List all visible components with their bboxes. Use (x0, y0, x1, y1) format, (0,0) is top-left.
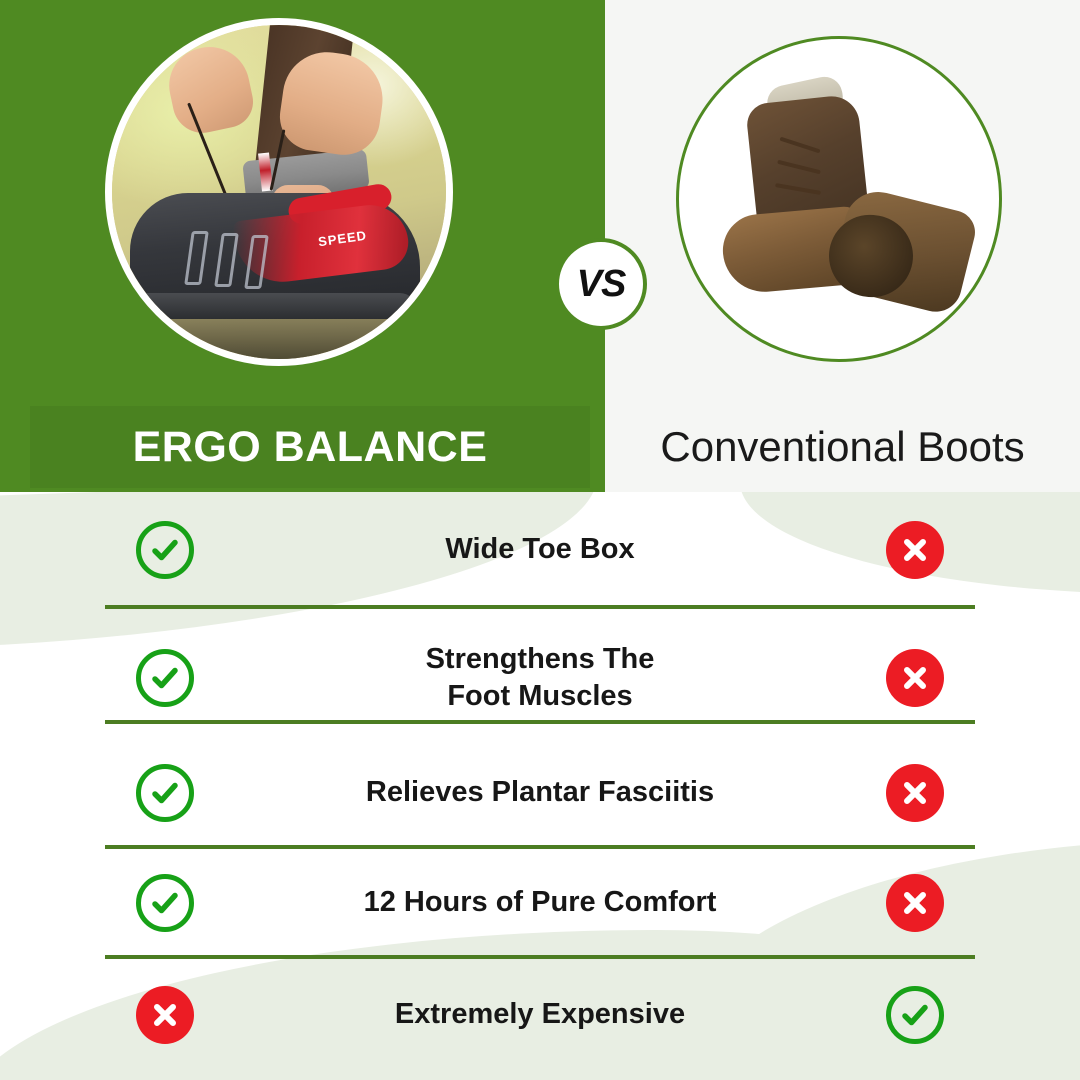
feature-label: Extremely Expensive (330, 996, 750, 1033)
row-divider (105, 720, 975, 724)
feature-label-line: Strengthens The (330, 641, 750, 678)
left-verdict-cell (0, 874, 330, 932)
header-section: SPEED VS ERGO BALANCE Conventional Boots (0, 0, 1080, 492)
check-icon (136, 649, 194, 707)
comparison-row: Extremely Expensive (0, 979, 1080, 1051)
feature-label-line: Relieves Plantar Fasciitis (330, 774, 750, 811)
feature-label: Strengthens TheFoot Muscles (330, 641, 750, 715)
feature-label-line: 12 Hours of Pure Comfort (330, 884, 750, 921)
row-divider (105, 605, 975, 609)
comparison-infographic: SPEED VS ERGO BALANCE Conventional Boots (0, 0, 1080, 1080)
right-verdict-cell (750, 521, 1080, 579)
left-verdict-cell (0, 764, 330, 822)
check-icon (136, 521, 194, 579)
comparison-rows: Wide Toe BoxStrengthens TheFoot MusclesR… (0, 492, 1080, 1080)
comparison-row: Strengthens TheFoot Muscles (0, 632, 1080, 724)
comparison-row: Wide Toe Box (0, 514, 1080, 586)
right-verdict-cell (750, 764, 1080, 822)
row-divider (105, 955, 975, 959)
photo-shoe-sole (132, 293, 418, 319)
cross-icon (886, 874, 944, 932)
left-verdict-cell (0, 986, 330, 1044)
feature-label-line: Wide Toe Box (330, 531, 750, 568)
right-verdict-cell (750, 649, 1080, 707)
product-image-conventional-boots (676, 36, 1002, 362)
comparison-row: 12 Hours of Pure Comfort (0, 867, 1080, 939)
cross-icon (136, 986, 194, 1044)
vs-badge: VS (555, 238, 647, 330)
comparison-table: Wide Toe BoxStrengthens TheFoot MusclesR… (0, 492, 1080, 1080)
feature-label: 12 Hours of Pure Comfort (330, 884, 750, 921)
feature-label-line: Foot Muscles (330, 678, 750, 715)
row-divider (105, 845, 975, 849)
vs-badge-label: VS (577, 263, 626, 306)
feature-label: Relieves Plantar Fasciitis (330, 774, 750, 811)
check-icon (136, 874, 194, 932)
check-icon (136, 764, 194, 822)
left-product-title: ERGO BALANCE (30, 406, 590, 488)
feature-label-line: Extremely Expensive (330, 996, 750, 1033)
right-product-title: Conventional Boots (605, 406, 1080, 488)
feature-label: Wide Toe Box (330, 531, 750, 568)
right-verdict-cell (750, 874, 1080, 932)
cross-icon (886, 649, 944, 707)
comparison-row: Relieves Plantar Fasciitis (0, 757, 1080, 829)
cross-icon (886, 521, 944, 579)
left-verdict-cell (0, 649, 330, 707)
left-verdict-cell (0, 521, 330, 579)
right-verdict-cell (750, 986, 1080, 1044)
product-image-ergo-balance: SPEED (105, 18, 453, 366)
check-icon (886, 986, 944, 1044)
cross-icon (886, 764, 944, 822)
